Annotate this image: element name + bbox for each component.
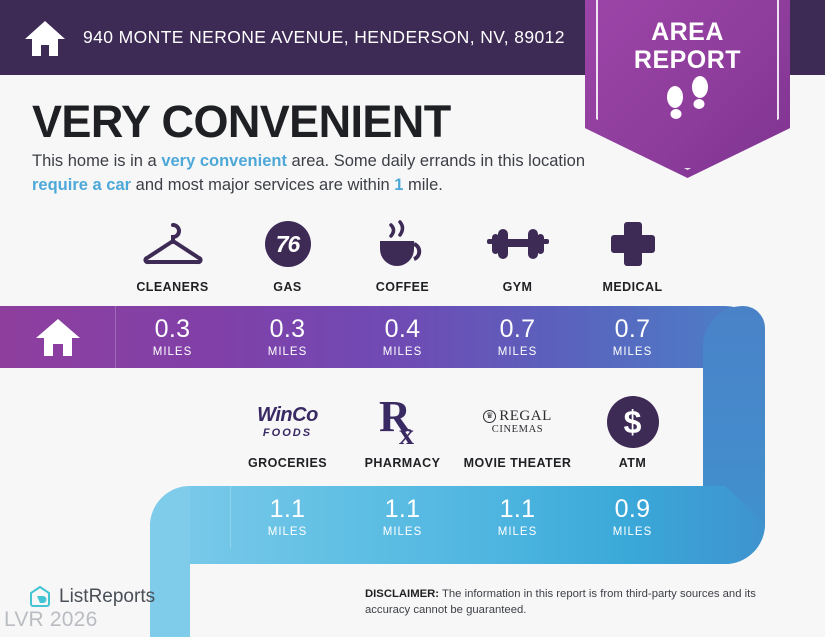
distance-cell-medical: 0.7 MILES — [575, 306, 690, 368]
distance-unit: MILES — [613, 526, 653, 538]
coffee-cup-icon — [375, 218, 431, 270]
distance-unit: MILES — [268, 346, 308, 358]
distance-cell-cleaners: 0.3 MILES — [115, 306, 230, 368]
distance-cell-coffee: 0.4 MILES — [345, 306, 460, 368]
badge-line-1: AREA — [585, 18, 790, 46]
home-marker-cell — [0, 306, 115, 368]
category-label: CLEANERS — [136, 280, 208, 294]
hanger-icon — [142, 218, 204, 270]
watermark-text: LVR 2026 — [4, 608, 97, 632]
distance-unit: MILES — [268, 526, 308, 538]
category-label: COFFEE — [376, 280, 429, 294]
distance-value: 0.3 — [155, 317, 191, 342]
category-cleaners: CLEANERS — [115, 218, 230, 294]
badge-line-2: REPORT — [585, 46, 790, 74]
category-icon-row-1: CLEANERS 76 GAS COFFEE — [115, 218, 690, 294]
distance-unit: MILES — [498, 526, 538, 538]
category-label: MEDICAL — [602, 280, 662, 294]
gas-76-text: 76 — [265, 221, 311, 267]
distance-row-1: 0.3 MILES 0.3 MILES 0.4 MILES 0.7 MILES … — [115, 306, 690, 368]
listreports-logo: ListReports — [28, 585, 155, 609]
distance-value: 0.4 — [385, 317, 421, 342]
distance-value: 0.7 — [500, 317, 536, 342]
distance-cell-movie-theater: 1.1 MILES — [460, 486, 575, 548]
distance-value: 1.1 — [385, 497, 421, 522]
distance-value: 0.7 — [615, 317, 651, 342]
distance-row-2: 1.1 MILES 1.1 MILES 1.1 MILES 0.9 MILES — [230, 486, 690, 548]
disclaimer: DISCLAIMER: The information in this repo… — [365, 587, 795, 619]
category-gym: GYM — [460, 218, 575, 294]
category-label: GYM — [503, 280, 533, 294]
distance-unit: MILES — [498, 346, 538, 358]
listreports-house-icon — [28, 585, 52, 609]
distance-value: 0.9 — [615, 497, 651, 522]
distance-unit: MILES — [153, 346, 193, 358]
home-icon — [35, 316, 81, 358]
distance-unit: MILES — [613, 346, 653, 358]
category-medical: MEDICAL — [575, 218, 690, 294]
medical-cross-icon — [609, 218, 657, 270]
distance-value: 0.3 — [270, 317, 306, 342]
distance-cell-gym: 0.7 MILES — [460, 306, 575, 368]
page-description: This home is in a very convenient area. … — [32, 149, 592, 198]
distance-value: 1.1 — [500, 497, 536, 522]
home-icon — [24, 18, 66, 58]
footprints-icon — [585, 84, 790, 122]
page-title: VERY CONVENIENT — [32, 96, 451, 148]
badge-title: AREA REPORT — [585, 18, 790, 74]
distance-unit: MILES — [383, 346, 423, 358]
distance-value: 1.1 — [270, 497, 306, 522]
property-address: 940 MONTE NERONE AVENUE, HENDERSON, NV, … — [83, 27, 565, 48]
area-report-badge: AREA REPORT — [585, 0, 790, 178]
category-gas: 76 GAS — [230, 218, 345, 294]
distance-cell-atm: 0.9 MILES — [575, 486, 690, 548]
category-coffee: COFFEE — [345, 218, 460, 294]
distance-cell-pharmacy: 1.1 MILES — [345, 486, 460, 548]
dumbbell-icon — [487, 218, 549, 270]
listreports-logo-text: ListReports — [59, 586, 155, 608]
gas-76-logo-icon: 76 — [265, 218, 311, 270]
distance-cell-gas: 0.3 MILES — [230, 306, 345, 368]
category-label: GAS — [273, 280, 301, 294]
distance-unit: MILES — [383, 526, 423, 538]
distance-cell-groceries: 1.1 MILES — [230, 486, 345, 548]
disclaimer-label: DISCLAIMER: — [365, 588, 439, 600]
